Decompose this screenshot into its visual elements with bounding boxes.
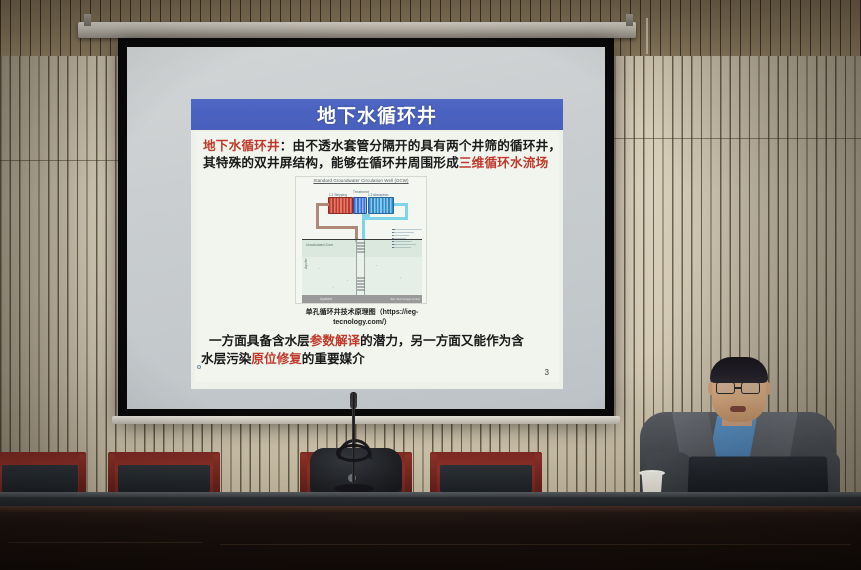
- diagram-stripping-unit: [328, 197, 353, 214]
- diagram-legend: [392, 229, 422, 250]
- diagram-caption-line-2: tecnology.com/）: [333, 319, 391, 326]
- diagram-aquifer-label: Aquifer: [304, 258, 308, 269]
- housing-bracket-left: [84, 14, 91, 26]
- chair-arm: [213, 454, 220, 496]
- diagram-unsaturated-label: Unsaturated Zone: [306, 243, 333, 247]
- legend-line: [392, 247, 411, 248]
- chair-arm: [79, 454, 86, 496]
- projector-screen-roller-bar: [112, 416, 620, 424]
- microphone-stand[interactable]: [352, 392, 355, 492]
- body-highlight-2: 三维循环水流场: [459, 156, 549, 170]
- slide-bottom-line-1: 一方面具备含水层参数解译的潜力，另一方面又能作为含: [209, 330, 573, 349]
- table-lip: [0, 506, 210, 512]
- slide-body-line-1: 地下水循环井：由不透水套管分隔开的具有两个井筛的循环井，: [203, 138, 551, 155]
- legend-line: [392, 232, 414, 233]
- slide-body: 地下水循环井：由不透水套管分隔开的具有两个井筛的循环井， 其特殊的双井屏结构，能…: [195, 132, 559, 382]
- chair-arm: [405, 454, 412, 496]
- diagram-source-note: IEG Technologie GmbH: [391, 297, 420, 301]
- conference-table-front-right: [210, 506, 861, 570]
- diagram-treatment-label: Treatment: [296, 190, 426, 194]
- table-panel-line: [220, 544, 851, 545]
- slide-title-bar: 地下水循环井: [191, 99, 563, 130]
- glasses-lens-right: [741, 382, 760, 394]
- body-text-1: ：由不透水套管分隔开的具有两个井筛的循环井，: [280, 139, 561, 153]
- bottom-highlight-2: 原位修复: [251, 352, 301, 366]
- diagram-pipe-horizontal-lower: [316, 226, 358, 229]
- diagram-title: Standard Groundwater Circulation Well (G…: [296, 178, 426, 183]
- diagram-caption-line-1: 单孔循环井技术原理图（https://ieg-: [306, 309, 419, 316]
- chair-pad: [440, 465, 532, 492]
- legend-line: [392, 241, 412, 242]
- bottom-text-2a: 水层污染: [201, 352, 251, 366]
- wall-seam: [0, 160, 118, 161]
- diagram-well-screen-upper: [357, 241, 365, 253]
- housing-bracket-right: [626, 14, 633, 26]
- diagram-pipe-riser-top: [362, 214, 370, 217]
- diagram-aquitard-label: Aquitard: [320, 297, 332, 301]
- diagram-mid-unit: [353, 197, 367, 214]
- room-scene: 地下水循环井 地下水循环井：由不透水套管分隔开的具有两个井筛的循环井， 其特殊的…: [0, 0, 861, 570]
- bottom-highlight-1: 参数解译: [310, 334, 360, 348]
- microphone-ring: [336, 444, 371, 462]
- wall-seam: [614, 138, 861, 139]
- conference-table-front-left: [0, 506, 210, 570]
- chair-pad: [2, 465, 77, 492]
- table-panel-line: [8, 542, 202, 543]
- projection-screen[interactable]: 地下水循环井 地下水循环井：由不透水套管分隔开的具有两个井筛的循环井， 其特殊的…: [118, 38, 614, 420]
- housing-cord: [646, 18, 648, 54]
- conference-chair[interactable]: [0, 452, 86, 496]
- gcw-diagram: Standard Groundwater Circulation Well (G…: [295, 176, 427, 304]
- diagram-absorption-unit: [368, 197, 394, 214]
- bottom-text-2b: 的重要媒介: [302, 352, 365, 366]
- table-lip: [210, 506, 861, 512]
- table-top-edge: [0, 492, 861, 497]
- body-highlight-1: 地下水循环井: [203, 139, 280, 153]
- diagram-pipe-riser: [362, 214, 365, 242]
- presenter-mouth: [730, 406, 746, 412]
- presenter-hair: [710, 357, 768, 383]
- conference-chair[interactable]: [108, 452, 220, 496]
- conference-chair[interactable]: [430, 452, 542, 496]
- slide-title: 地下水循环井: [317, 101, 437, 128]
- legend-line: [392, 235, 409, 236]
- legend-line: [392, 238, 406, 239]
- chair-arm: [300, 454, 307, 496]
- slide-bullet-dot: [197, 365, 201, 369]
- bottom-text-1b: 的潜力，另一方面又能作为含: [360, 334, 524, 348]
- projector-screen-housing[interactable]: [78, 22, 636, 38]
- chair-arm: [108, 454, 115, 496]
- body-text-2: 其特殊的双井屏结构，能够在循环井周围形成: [203, 156, 459, 170]
- slide-body-line-2: 其特殊的双井屏结构，能够在循环井周围形成三维循环水流场: [203, 155, 551, 172]
- diagram-well-screen-lower: [357, 277, 365, 291]
- glasses-bridge: [735, 387, 741, 389]
- diagram-pipe-return: [362, 217, 408, 220]
- chair-arm: [430, 454, 437, 496]
- glasses-lens-left: [716, 382, 735, 394]
- slide-bottom-line-2: 水层污染原位修复的重要媒介: [201, 348, 565, 367]
- slide-page-number: 3: [545, 368, 549, 377]
- projection-surface: 地下水循环井 地下水循环井：由不透水套管分隔开的具有两个井筛的循环井， 其特殊的…: [127, 47, 605, 409]
- chair-arm: [535, 454, 542, 496]
- presenter: [640, 360, 840, 510]
- diagram-caption: 单孔循环井技术原理图（https://ieg- tecnology.com/）: [257, 308, 467, 328]
- chair-pad: [118, 465, 210, 492]
- presentation-slide: 地下水循环井 地下水循环井：由不透水套管分隔开的具有两个井筛的循环井， 其特殊的…: [191, 99, 563, 389]
- bottom-text-1a: 一方面具备含水层: [209, 334, 310, 348]
- legend-line: [392, 244, 416, 245]
- legend-line: [392, 229, 422, 230]
